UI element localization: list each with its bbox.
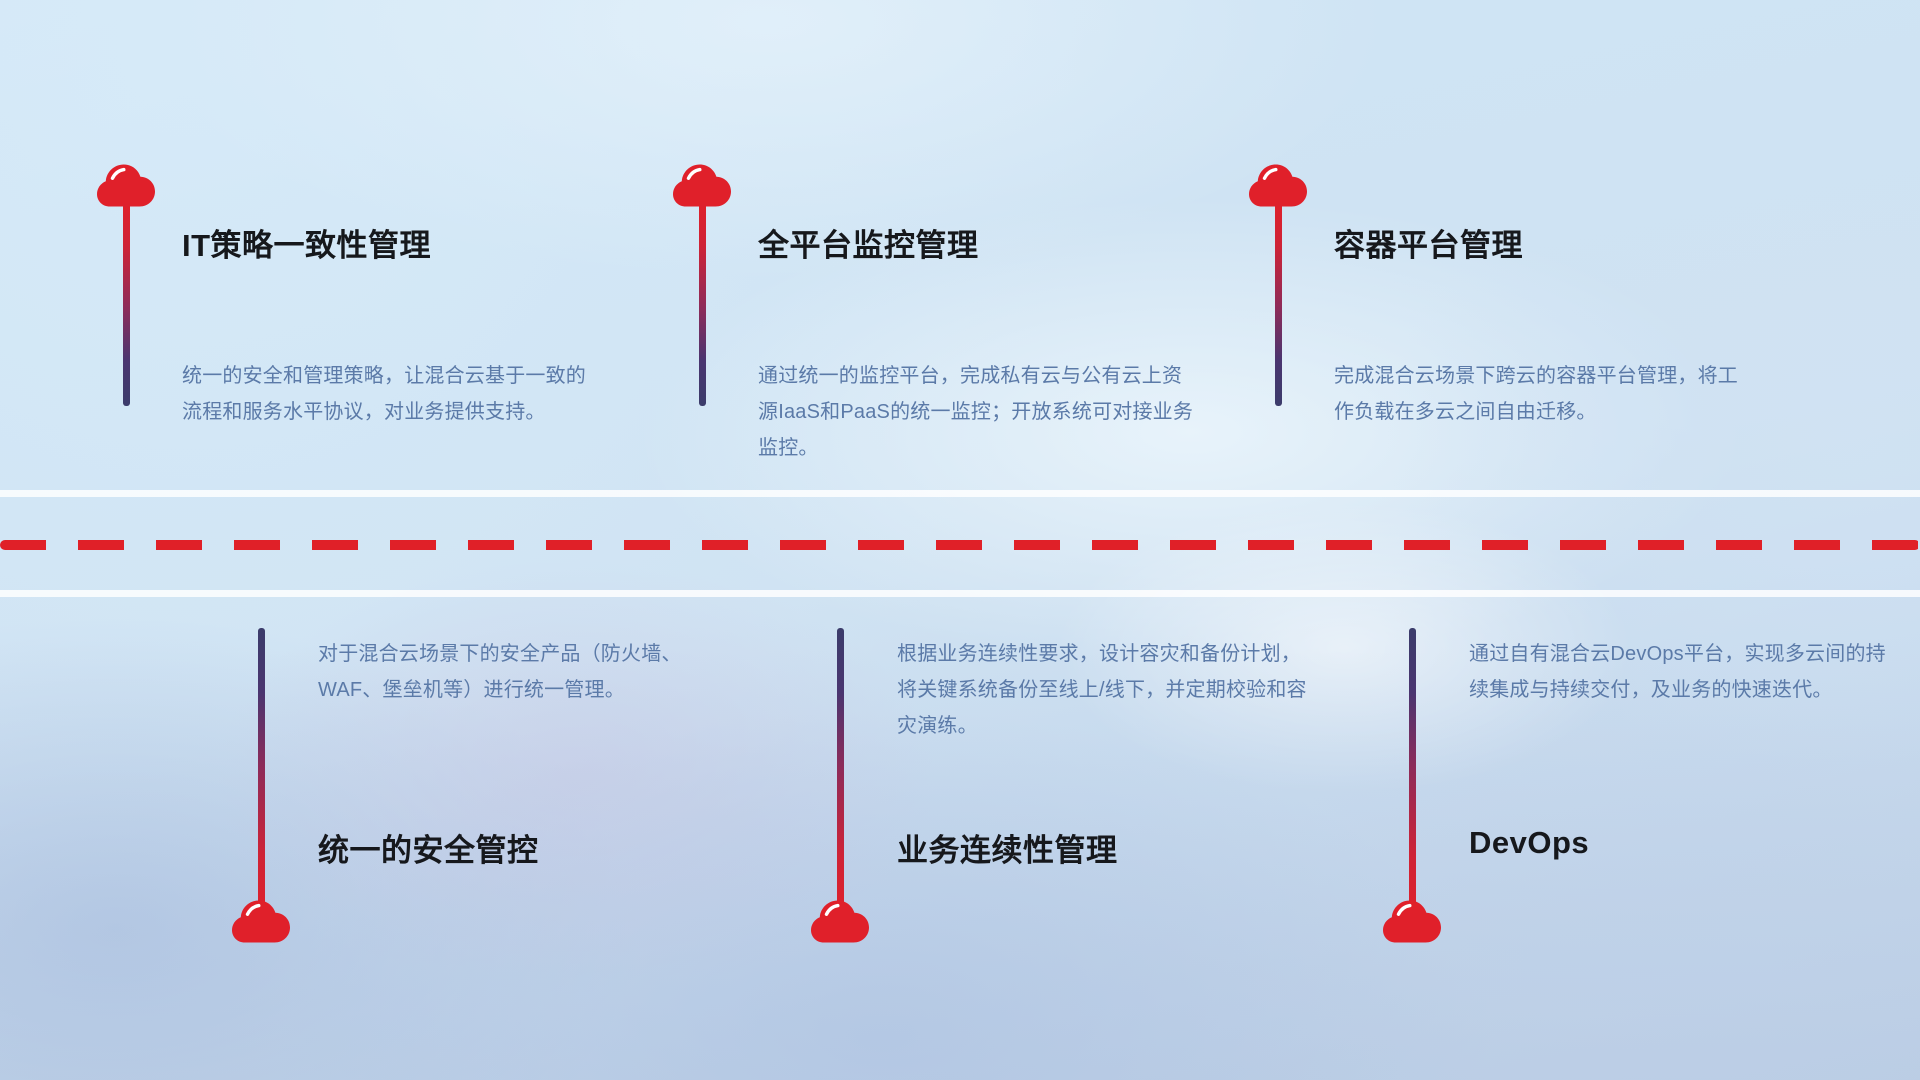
bottom-card-1-description: 对于混合云场景下的安全产品（防火墙、WAF、堡垒机等）进行统一管理。 bbox=[318, 636, 738, 708]
dashed-separator bbox=[0, 540, 1920, 550]
top-stem-1 bbox=[123, 200, 130, 406]
bottom-card-3-title: DevOps bbox=[1469, 825, 1589, 861]
top-card-2-description: 通过统一的监控平台，完成私有云与公有云上资源IaaS和PaaS的统一监控；开放系… bbox=[758, 358, 1198, 466]
cloud-icon bbox=[231, 898, 293, 944]
bottom-stem-3 bbox=[1409, 628, 1416, 920]
top-card-3-description: 完成混合云场景下跨云的容器平台管理，将工作负载在多云之间自由迁移。 bbox=[1334, 358, 1754, 430]
divider-rule-bottom bbox=[0, 590, 1920, 597]
cloud-icon bbox=[810, 898, 872, 944]
bottom-stem-2 bbox=[837, 628, 844, 920]
top-stem-3 bbox=[1275, 200, 1282, 406]
infographic-canvas: IT策略一致性管理 统一的安全和管理策略，让混合云基于一致的流程和服务水平协议，… bbox=[0, 0, 1920, 1080]
top-card-1-title: IT策略一致性管理 bbox=[182, 220, 431, 265]
bottom-card-1-title: 统一的安全管控 bbox=[318, 825, 539, 870]
bottom-stem-1 bbox=[258, 628, 265, 920]
divider-rule-top bbox=[0, 490, 1920, 497]
bottom-card-3-description: 通过自有混合云DevOps平台，实现多云间的持续集成与持续交付，及业务的快速迭代… bbox=[1469, 636, 1889, 708]
top-card-3-title: 容器平台管理 bbox=[1334, 220, 1523, 265]
top-card-1-description: 统一的安全和管理策略，让混合云基于一致的流程和服务水平协议，对业务提供支持。 bbox=[182, 358, 602, 430]
top-stem-2 bbox=[699, 200, 706, 406]
cloud-icon bbox=[1382, 898, 1444, 944]
bottom-card-2-title: 业务连续性管理 bbox=[897, 825, 1118, 870]
bottom-card-2-description: 根据业务连续性要求，设计容灾和备份计划，将关键系统备份至线上/线下，并定期校验和… bbox=[897, 636, 1317, 744]
top-card-2-title: 全平台监控管理 bbox=[758, 220, 979, 265]
